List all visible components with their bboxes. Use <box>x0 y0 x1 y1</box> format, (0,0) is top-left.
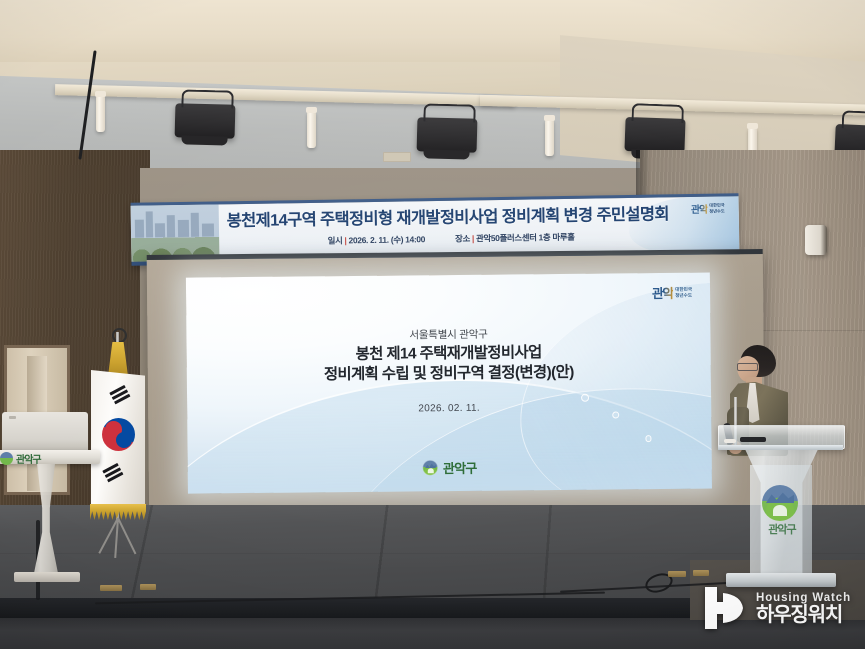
laptop-icon[interactable] <box>2 412 88 452</box>
gwanak-logo-mark: 관악 <box>652 283 673 302</box>
wall-speaker-icon <box>805 225 827 255</box>
banner-cityscape-image <box>131 204 220 261</box>
flag-finial <box>112 328 127 343</box>
podium-left: 관악구 <box>0 412 106 587</box>
downlight-icon <box>545 120 554 156</box>
gwanak-logo-tagline: 대한민국 청년수도 <box>709 203 725 214</box>
podium-left-column <box>30 464 62 574</box>
banner-datetime-group: 일시 | 2026. 2. 11. (수) 14:00 <box>328 233 426 247</box>
presentation-slide: 관악 대한민국 청년수도 서울특별시 관악구 봉천 제14 주택재개발정비사업 … <box>186 273 712 494</box>
banner-gwanak-logo: 관악 대한민국 청년수도 <box>691 200 725 216</box>
housing-watch-logo-icon <box>703 585 747 631</box>
podium-left-nameplate-text: 관악구 <box>16 451 41 466</box>
podium-left-base <box>14 572 80 582</box>
watermark-text: Housing Watch 하우징워치 <box>756 592 851 625</box>
gwanak-emblem-icon <box>423 460 438 475</box>
banner-datetime-separator: | <box>344 235 346 245</box>
podium-right: 관악구 <box>718 425 843 595</box>
banner-datetime-label: 일시 <box>328 235 343 245</box>
stage-light-icon <box>624 117 685 153</box>
floor-cable-plate <box>668 571 686 577</box>
podium-left-nameplate: 관악구 <box>0 451 41 466</box>
banner-place-group: 장소 | 관악50플러스센터 1층 마루홀 <box>455 231 575 245</box>
watermark: Housing Watch 하우징워치 <box>703 585 851 631</box>
gwanak-logo-tagline: 대한민국 청년수도 <box>675 286 692 298</box>
tagline-line-2: 청년수도 <box>709 208 724 213</box>
tagline-line-2: 청년수도 <box>675 292 692 297</box>
downlight-icon <box>96 96 105 132</box>
banner-subtitle: 일시 | 2026. 2. 11. (수) 14:00 장소 | 관악50플러스… <box>221 229 681 248</box>
ceiling-vent <box>383 152 411 162</box>
glasses-icon <box>737 363 758 371</box>
banner-place-label: 장소 <box>455 233 470 243</box>
gwanak-logo-mark: 관악 <box>691 201 708 216</box>
slide-bubble-decoration <box>645 435 652 442</box>
tagline-line-1: 대한민국 <box>675 286 692 291</box>
banner-datetime-value: 2026. 2. 11. (수) 14:00 <box>349 234 426 245</box>
banner-title: 봉천제14구역 주택정비형 재개발정비사업 정비계획 변경 주민설명회 <box>213 200 683 231</box>
banner-place-value: 관악50플러스센터 1층 마루홀 <box>476 232 575 244</box>
flag-tassel <box>108 342 128 376</box>
stage-light-icon <box>417 117 478 153</box>
stage-light-icon <box>175 103 236 139</box>
gwanak-emblem-icon <box>762 485 798 521</box>
slide-gwanak-logo: 관악 대한민국 청년수도 <box>652 283 692 302</box>
gwae-trigram <box>109 385 131 407</box>
podium-right-emblem-text: 관악구 <box>762 521 802 537</box>
slide-bubble-decoration <box>581 394 589 402</box>
floor-cable-plate <box>140 584 156 590</box>
floor-cable-plate <box>693 570 709 576</box>
downlight-icon <box>307 112 316 148</box>
watermark-korean: 하우징워치 <box>756 605 851 625</box>
conference-room-photo: 봉천제14구역 주택정비형 재개발정비사업 정비계획 변경 주민설명회 일시 |… <box>0 0 865 649</box>
watermark-english: Housing Watch <box>756 592 851 604</box>
slide-footer-logo-text: 관악구 <box>443 458 477 477</box>
podium-right-top-lip <box>718 445 843 450</box>
banner-place-separator: | <box>472 233 474 243</box>
gwanak-emblem-icon <box>0 452 13 465</box>
taeguk-symbol-icon <box>102 418 135 451</box>
desk-microphone-icon <box>740 437 766 442</box>
podium-notepad <box>724 439 736 443</box>
projection-screen: 관악 대한민국 청년수도 서울특별시 관악구 봉천 제14 주택재개발정비사업 … <box>147 249 766 534</box>
